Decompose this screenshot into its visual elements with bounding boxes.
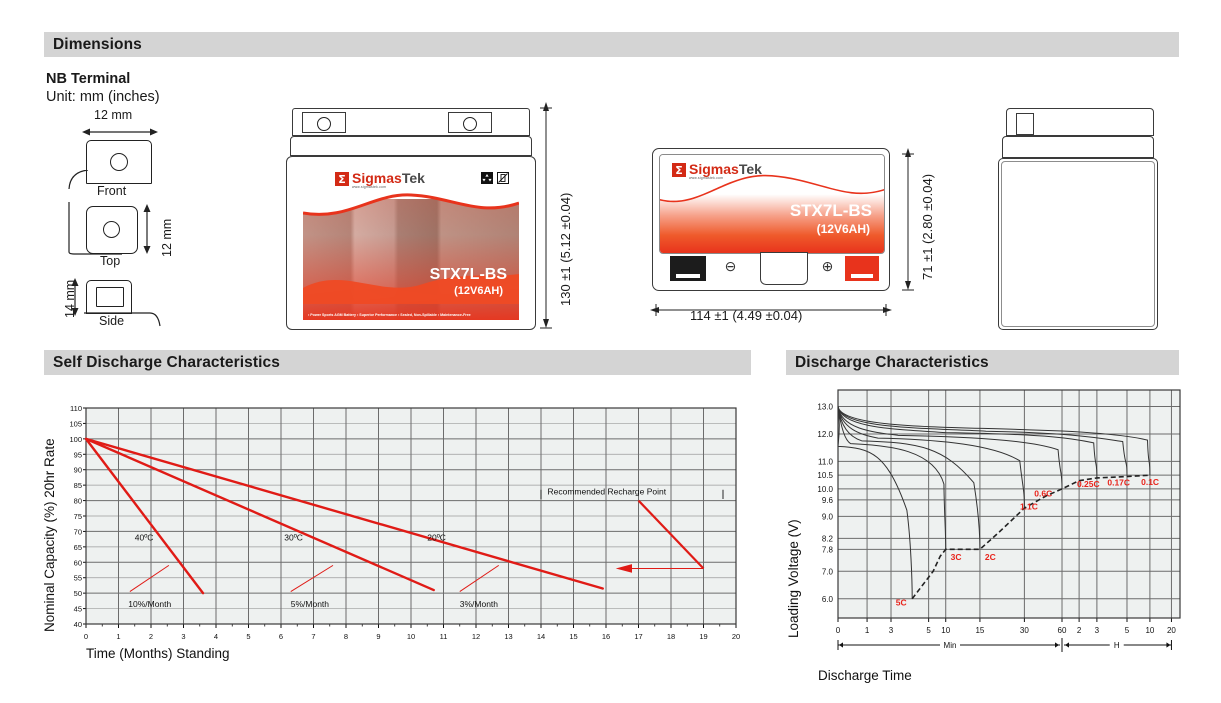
svg-text:90: 90 [74, 466, 82, 475]
discharge-chart: 13.012.011.010.510.09.69.08.27.87.06.001… [790, 380, 1190, 690]
terminal-side-inner [96, 287, 124, 307]
terminal-drawings: 12 mm Front 12 mm Top 14 mm Side [44, 108, 234, 333]
svg-text:30ºC: 30ºC [284, 533, 303, 543]
terminal-side-dim: 14 mm [63, 280, 77, 318]
battery-front-label-face: Σ SigmasTek www.sigmastek.com STX7L-BS (… [659, 154, 885, 254]
battery-label-face: Σ SigmasTek www.sigmastek.com STX7L-BS (… [303, 165, 519, 320]
front-battery-model-name: STX7L-BS [790, 201, 872, 221]
sigma-icon: Σ [335, 172, 349, 186]
svg-text:7: 7 [311, 632, 315, 641]
svg-text:Recommended Recharge Point: Recommended Recharge Point [548, 486, 667, 496]
section-title-dimensions: Dimensions [53, 36, 142, 54]
svg-text:75: 75 [74, 512, 82, 521]
svg-text:9.0: 9.0 [822, 512, 834, 521]
svg-text:18: 18 [667, 632, 675, 641]
svg-text:12: 12 [472, 632, 480, 641]
battery-terminal-right-hole [463, 117, 477, 131]
self-discharge-y-axis-label: Nominal Capacity (%) 20hr Rate [42, 438, 57, 632]
svg-text:5: 5 [1125, 626, 1130, 635]
svg-text:2C: 2C [985, 552, 996, 562]
brand-name: SigmasTek [352, 172, 425, 185]
svg-text:6.0: 6.0 [822, 595, 834, 604]
svg-text:5: 5 [926, 626, 931, 635]
svg-text:55: 55 [74, 574, 82, 583]
svg-text:3: 3 [889, 626, 894, 635]
section-title-discharge: Discharge Characteristics [795, 354, 989, 372]
svg-text:19: 19 [699, 632, 707, 641]
front-width-dimension-text: 114 ±1 (4.49 ±0.04) [690, 308, 802, 323]
section-title-self-discharge: Self Discharge Characteristics [53, 354, 280, 372]
battery-side-view: Σ SigmasTek www.sigmastek.com STX7L-BS (… [286, 100, 536, 330]
svg-text:8: 8 [344, 632, 348, 641]
top-dim-arrow-icon [140, 204, 154, 256]
svg-text:0.1C: 0.1C [1141, 477, 1159, 487]
front-dim-arrow-icon [82, 126, 162, 138]
terminal-front-hole [110, 153, 128, 171]
svg-text:100: 100 [69, 435, 82, 444]
svg-text:1: 1 [865, 626, 870, 635]
svg-text:5: 5 [246, 632, 250, 641]
battery-end-view [998, 100, 1158, 330]
discharge-x-axis-label: Discharge Time [818, 668, 912, 683]
battery-front-view: Σ SigmasTek www.sigmastek.com STX7L-BS (… [652, 148, 902, 298]
front-height-dimension-text: 71 ±1 (2.80 ±0.04) [920, 174, 935, 280]
terminal-top-dim: 12 mm [160, 219, 174, 257]
svg-text:9: 9 [376, 632, 380, 641]
svg-text:10: 10 [407, 632, 415, 641]
svg-text:80: 80 [74, 497, 82, 506]
svg-text:0.17C: 0.17C [1107, 478, 1130, 488]
svg-text:110: 110 [70, 404, 82, 413]
terminal-top-label: Top [100, 254, 120, 268]
unit-note-label: Unit: mm (inches) [46, 89, 160, 105]
svg-text:70: 70 [74, 527, 82, 536]
positive-symbol-icon: ⊕ [820, 259, 835, 274]
svg-text:H: H [1114, 641, 1120, 650]
svg-text:11.0: 11.0 [818, 457, 834, 466]
battery-lid [290, 136, 532, 156]
svg-text:13: 13 [504, 632, 512, 641]
section-header-dimensions: Dimensions [44, 32, 1179, 57]
positive-terminal-bar [851, 274, 873, 278]
side-height-dimension-text: 130 ±1 (5.12 ±0.04) [558, 193, 573, 306]
svg-text:2: 2 [149, 632, 153, 641]
svg-text:Min: Min [944, 641, 957, 650]
battery-model-name: STX7L-BS [430, 266, 507, 284]
front-leader-line [68, 170, 90, 190]
top-leader-line [66, 202, 122, 257]
svg-text:1.1C: 1.1C [1020, 501, 1038, 511]
svg-text:60: 60 [1058, 626, 1067, 635]
svg-text:9.6: 9.6 [822, 496, 834, 505]
svg-text:10%/Month: 10%/Month [128, 599, 171, 609]
svg-text:3: 3 [181, 632, 185, 641]
svg-text:5C: 5C [896, 598, 907, 608]
svg-text:15: 15 [975, 626, 984, 635]
svg-text:0: 0 [84, 632, 88, 641]
svg-text:40ºC: 40ºC [135, 533, 154, 543]
svg-text:3%/Month: 3%/Month [460, 599, 499, 609]
svg-text:50: 50 [74, 589, 82, 598]
svg-text:14: 14 [537, 632, 545, 641]
self-discharge-chart: 4045505560657075808590951001051100123456… [44, 400, 744, 670]
svg-text:4: 4 [214, 632, 218, 641]
terminal-type-label: NB Terminal [46, 71, 130, 87]
battery-terminal-left-hole [317, 117, 331, 131]
svg-text:8.2: 8.2 [822, 534, 834, 543]
terminal-side-label: Side [99, 314, 124, 328]
svg-text:13.0: 13.0 [817, 402, 833, 411]
svg-text:20: 20 [732, 632, 740, 641]
terminal-front-label: Front [97, 184, 126, 198]
svg-text:85: 85 [74, 481, 82, 490]
svg-text:3C: 3C [951, 552, 962, 562]
svg-text:20: 20 [1167, 626, 1176, 635]
svg-text:5%/Month: 5%/Month [291, 599, 330, 609]
no-dispose-icon [497, 172, 509, 184]
recycle-icon [481, 172, 493, 184]
svg-text:0: 0 [836, 626, 841, 635]
svg-text:0.25C: 0.25C [1077, 479, 1100, 489]
svg-text:0.6C: 0.6C [1034, 489, 1052, 499]
svg-text:20ºC: 20ºC [427, 533, 446, 543]
svg-text:10.5: 10.5 [817, 471, 833, 480]
svg-text:2: 2 [1077, 626, 1082, 635]
battery-tagline: • Power Sports AGM Battery • Superior Pe… [308, 313, 471, 317]
svg-text:10.0: 10.0 [817, 485, 833, 494]
svg-text:1: 1 [116, 632, 120, 641]
svg-text:16: 16 [602, 632, 610, 641]
self-discharge-x-axis-label: Time (Months) Standing [86, 646, 230, 661]
svg-text:7.8: 7.8 [822, 545, 834, 554]
svg-text:3: 3 [1095, 626, 1100, 635]
end-view-case-inner [1001, 161, 1155, 327]
battery-spec: (12V6AH) [454, 285, 503, 297]
svg-text:60: 60 [74, 558, 82, 567]
svg-text:40: 40 [74, 620, 82, 629]
section-header-discharge: Discharge Characteristics [786, 350, 1179, 375]
svg-text:105: 105 [69, 419, 82, 428]
terminal-front-dim: 12 mm [94, 108, 132, 122]
svg-text:10: 10 [1145, 626, 1154, 635]
svg-text:7.0: 7.0 [822, 567, 834, 576]
svg-text:12.0: 12.0 [817, 430, 833, 439]
front-brand-name: SigmasTek [689, 163, 762, 176]
svg-text:17: 17 [634, 632, 642, 641]
end-view-lid [1002, 136, 1154, 158]
end-view-terminal [1016, 113, 1034, 135]
svg-text:6: 6 [279, 632, 283, 641]
label-wave-top [303, 191, 519, 221]
battery-cap-strip [760, 252, 808, 285]
svg-text:95: 95 [74, 450, 82, 459]
front-brand-logo: Σ SigmasTek www.sigmastek.com [672, 163, 762, 180]
front-sigma-icon: Σ [672, 163, 686, 177]
svg-text:15: 15 [569, 632, 577, 641]
svg-text:65: 65 [74, 543, 82, 552]
negative-symbol-icon: ⊖ [723, 259, 738, 274]
svg-text:10: 10 [941, 626, 950, 635]
discharge-y-axis-label: Loading Voltage (V) [786, 519, 801, 638]
front-battery-spec: (12V6AH) [817, 222, 870, 236]
svg-text:11: 11 [440, 632, 448, 641]
negative-terminal-bar [676, 274, 700, 278]
section-header-self-discharge: Self Discharge Characteristics [44, 350, 751, 375]
front-height-dimension-line [900, 146, 916, 292]
svg-text:45: 45 [74, 605, 82, 614]
side-height-dimension-line [538, 100, 554, 330]
svg-text:30: 30 [1020, 626, 1029, 635]
brand-logo: Σ SigmasTek www.sigmastek.com [335, 172, 425, 189]
